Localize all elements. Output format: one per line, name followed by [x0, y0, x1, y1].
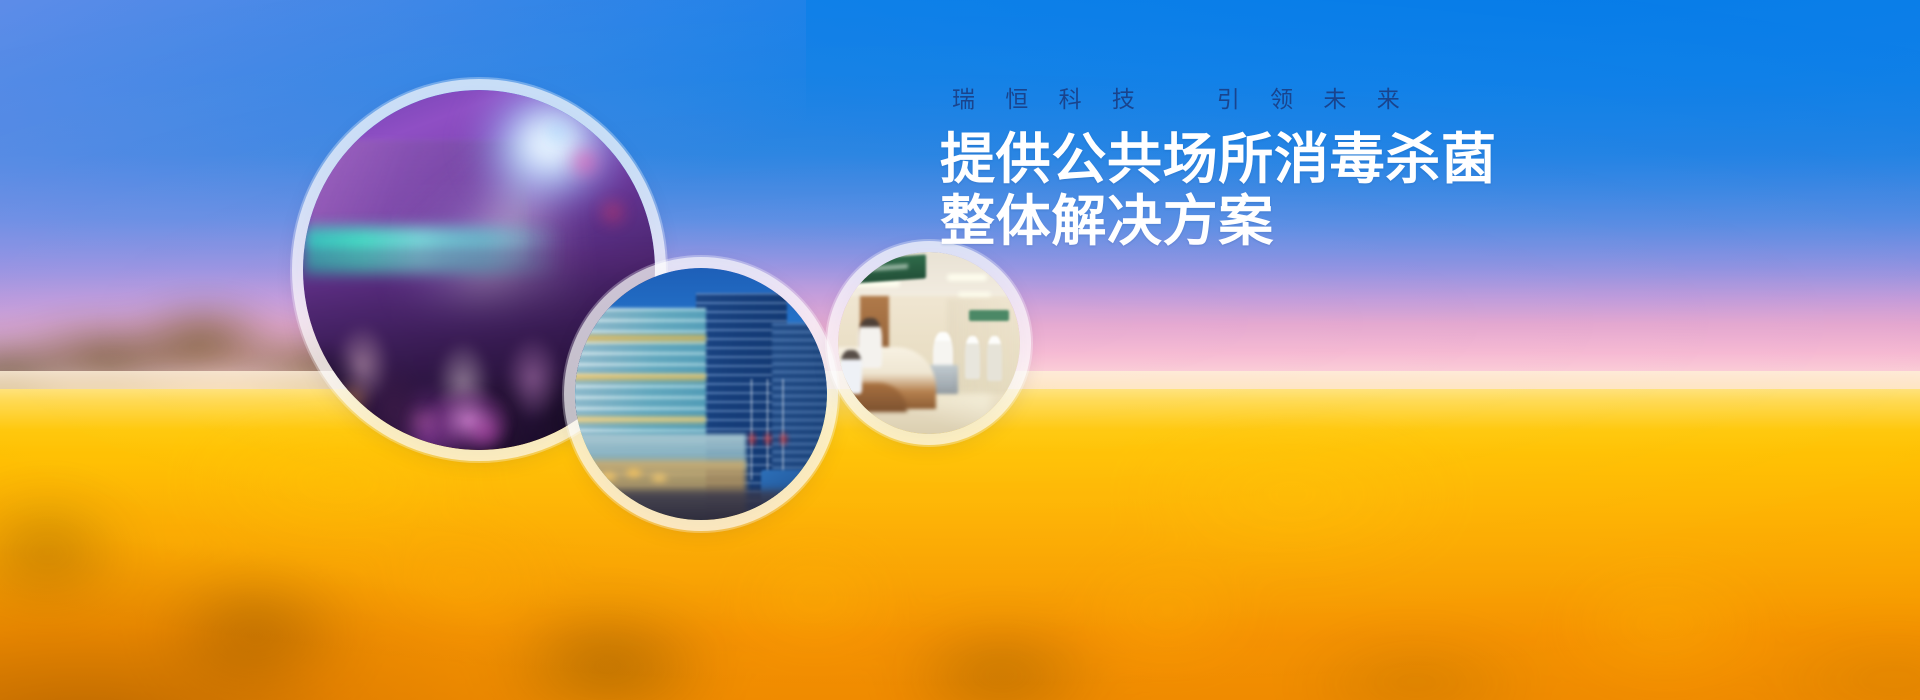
- circle-photo-hospital: [838, 252, 1020, 434]
- city-forecourt: [575, 490, 827, 520]
- headline-line-2: 整体解决方案: [940, 191, 1620, 253]
- hospital-nurse: [840, 350, 862, 394]
- hospital-photo: [838, 252, 1020, 434]
- hospital-nurse: [987, 336, 1002, 382]
- brand-tagline: 瑞 恒 科 技 引 领 未 来: [952, 88, 1620, 111]
- city-red-banners: [741, 424, 796, 454]
- hospital-direction-sign: [969, 310, 1009, 321]
- hospital-nurse: [858, 318, 882, 369]
- circle-photo-city-buildings: [575, 268, 827, 520]
- headline-line-1: 提供公共场所消毒杀菌: [940, 129, 1620, 191]
- hospital-ceiling-lamp: [958, 292, 991, 297]
- hero-banner: 瑞 恒 科 技 引 领 未 来 提供公共场所消毒杀菌 整体解决方案: [0, 0, 1920, 700]
- city-buildings-photo: [575, 268, 827, 520]
- hospital-nurse: [965, 336, 980, 380]
- page-title: 提供公共场所消毒杀菌 整体解决方案: [940, 129, 1620, 252]
- hospital-ceiling-lamp: [947, 274, 987, 281]
- hero-copy: 瑞 恒 科 技 引 领 未 来 提供公共场所消毒杀菌 整体解决方案: [940, 88, 1620, 252]
